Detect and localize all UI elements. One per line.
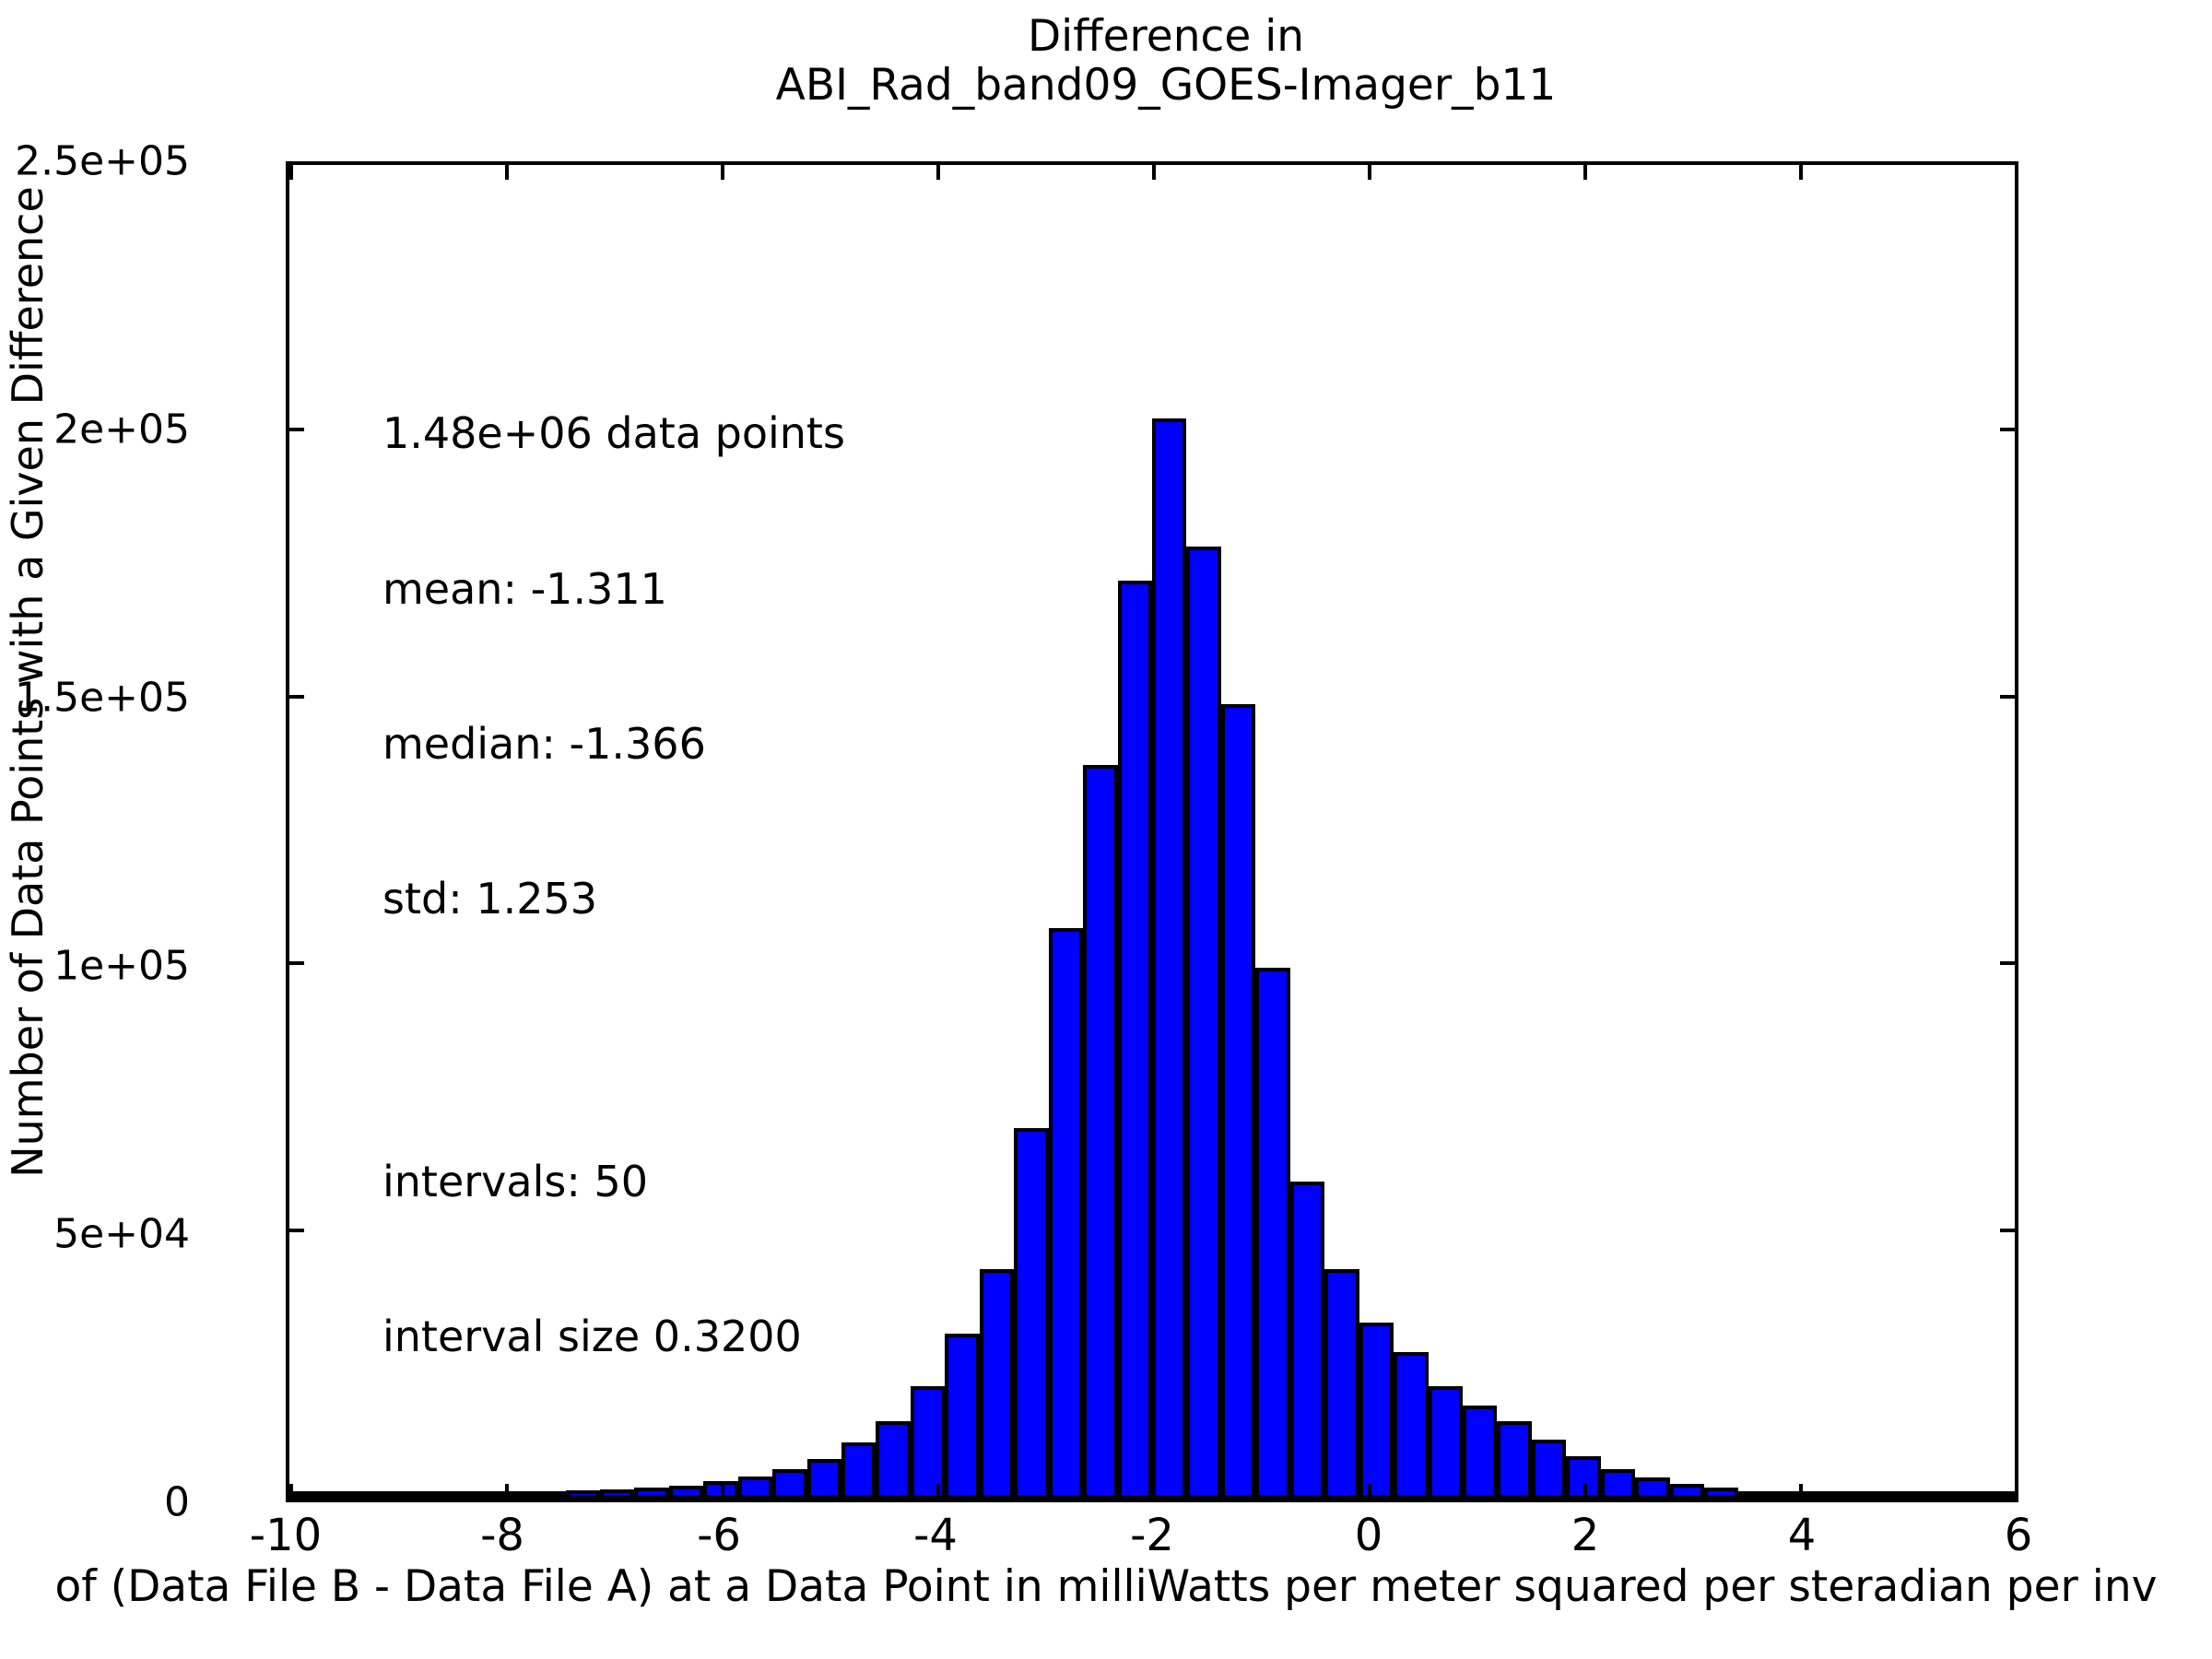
x-tick-label-3: -4 bbox=[913, 1510, 958, 1561]
x-tick-label-7: 4 bbox=[1788, 1510, 1817, 1561]
histogram-bar bbox=[1601, 1469, 1635, 1499]
histogram-bar bbox=[738, 1477, 772, 1499]
histogram-bar bbox=[1946, 1491, 1980, 1499]
histogram-bar bbox=[324, 1491, 358, 1499]
x-tick-mark bbox=[721, 164, 724, 180]
histogram-bar bbox=[1877, 1491, 1911, 1499]
x-tick-mark bbox=[2015, 164, 2018, 180]
x-tick-label-6: 2 bbox=[1571, 1510, 1600, 1561]
histogram-bar bbox=[359, 1491, 393, 1499]
y-tick-mark bbox=[2000, 961, 2016, 965]
annotation-std: std: 1.253 bbox=[382, 873, 845, 924]
histogram-bar bbox=[462, 1491, 496, 1499]
annotation-intervals: intervals: 50 bbox=[382, 1156, 845, 1207]
y-tick-mark bbox=[2000, 428, 2016, 431]
histogram-bar bbox=[1359, 1323, 1394, 1499]
histogram-bar bbox=[1221, 704, 1255, 1499]
annotation-mean: mean: -1.311 bbox=[382, 563, 845, 615]
histogram-bar bbox=[945, 1334, 979, 1499]
histogram-bar bbox=[980, 1269, 1014, 1499]
chart-title-line-1: Difference in bbox=[120, 13, 2212, 62]
histogram-bar bbox=[1842, 1491, 1877, 1499]
chart-title: Difference in ABI_Rad_band09_GOES-Imager… bbox=[0, 13, 2212, 110]
x-tick-mark bbox=[1799, 1484, 1803, 1500]
x-tick-mark bbox=[936, 1484, 940, 1500]
x-tick-mark bbox=[289, 1484, 293, 1500]
y-tick-mark bbox=[2000, 1495, 2016, 1499]
x-tick-mark bbox=[936, 164, 940, 180]
x-tick-label-1: -8 bbox=[480, 1510, 524, 1561]
x-tick-mark bbox=[721, 1484, 724, 1500]
histogram-bar bbox=[1807, 1491, 1841, 1499]
x-tick-mark bbox=[1368, 1484, 1371, 1500]
histogram-bar bbox=[1635, 1477, 1669, 1499]
histogram-bar bbox=[1670, 1484, 1704, 1499]
histogram-bar bbox=[1463, 1406, 1497, 1499]
histogram-bar bbox=[634, 1488, 668, 1499]
annotation-median: median: -1.366 bbox=[382, 718, 845, 770]
histogram-bar bbox=[1049, 928, 1083, 1499]
histogram-figure: Difference in ABI_Rad_band09_GOES-Imager… bbox=[0, 0, 2212, 1659]
x-tick-label-5: 0 bbox=[1355, 1510, 1383, 1561]
y-tick-label-2: 1e+05 bbox=[53, 943, 190, 990]
y-axis-label: Number of Data Points with a Given Diffe… bbox=[0, 0, 55, 1512]
y-tick-mark bbox=[2000, 1229, 2016, 1232]
histogram-bar bbox=[1324, 1269, 1359, 1499]
histogram-bar bbox=[531, 1491, 565, 1499]
x-tick-mark bbox=[1152, 1484, 1156, 1500]
stats-annotation: 1.48e+06 data points mean: -1.311 median… bbox=[382, 304, 845, 1465]
histogram-bar bbox=[1255, 968, 1289, 1499]
histogram-bar bbox=[841, 1442, 876, 1499]
x-tick-mark bbox=[1583, 1484, 1587, 1500]
x-tick-mark bbox=[289, 164, 293, 180]
histogram-bar bbox=[1290, 1182, 1324, 1499]
annotation-interval-size: interval size 0.3200 bbox=[382, 1311, 845, 1362]
histogram-bar bbox=[1394, 1352, 1428, 1499]
histogram-bar bbox=[911, 1386, 945, 1499]
x-tick-mark bbox=[505, 1484, 509, 1500]
y-tick-label-0: 0 bbox=[164, 1479, 190, 1526]
histogram-bar bbox=[1186, 547, 1220, 1499]
histogram-bar bbox=[1912, 1491, 1946, 1499]
y-tick-mark bbox=[288, 428, 304, 431]
x-tick-label-2: -6 bbox=[697, 1510, 741, 1561]
y-tick-mark bbox=[288, 1229, 304, 1232]
histogram-bar bbox=[1083, 765, 1117, 1499]
histogram-bar bbox=[393, 1491, 427, 1499]
x-axis-label: of (Data File B - Data File A) at a Data… bbox=[0, 1561, 2212, 1612]
x-tick-label-4: -2 bbox=[1130, 1510, 1174, 1561]
histogram-bar bbox=[428, 1491, 462, 1499]
x-tick-mark bbox=[1368, 164, 1371, 180]
y-tick-mark bbox=[288, 695, 304, 699]
histogram-bar bbox=[1014, 1128, 1048, 1499]
histogram-bar bbox=[566, 1490, 600, 1499]
x-tick-mark bbox=[505, 164, 509, 180]
x-tick-mark bbox=[1152, 164, 1156, 180]
x-tick-label-0: -10 bbox=[250, 1510, 322, 1561]
annotation-data-points: 1.48e+06 data points bbox=[382, 407, 845, 459]
histogram-bar bbox=[772, 1469, 806, 1499]
histogram-bar bbox=[876, 1421, 910, 1499]
y-tick-mark bbox=[288, 961, 304, 965]
x-tick-label-8: 6 bbox=[2005, 1510, 2033, 1561]
y-tick-mark bbox=[2000, 695, 2016, 699]
histogram-bar bbox=[1118, 581, 1152, 1499]
x-tick-mark bbox=[2015, 1484, 2018, 1500]
histogram-bar bbox=[669, 1486, 703, 1499]
histogram-bar bbox=[1704, 1488, 1738, 1499]
histogram-bar bbox=[1532, 1440, 1566, 1499]
y-tick-label-4: 2e+05 bbox=[53, 406, 190, 453]
y-tick-label-1: 5e+04 bbox=[53, 1211, 190, 1258]
histogram-bar bbox=[1152, 418, 1186, 1499]
histogram-bar bbox=[600, 1489, 634, 1499]
chart-title-line-2: ABI_Rad_band09_GOES-Imager_b11 bbox=[120, 62, 2212, 111]
histogram-bar bbox=[1497, 1421, 1531, 1499]
annotation-spacer bbox=[382, 1029, 845, 1053]
x-tick-mark bbox=[1799, 164, 1803, 180]
histogram-bar bbox=[1738, 1491, 1772, 1499]
histogram-bar bbox=[497, 1491, 531, 1499]
y-tick-label-3: 1.5e+05 bbox=[15, 675, 190, 722]
y-tick-label-5: 2.5e+05 bbox=[15, 138, 190, 185]
histogram-bar bbox=[1429, 1386, 1463, 1499]
y-tick-mark bbox=[2000, 161, 2016, 165]
x-tick-mark bbox=[1583, 164, 1587, 180]
